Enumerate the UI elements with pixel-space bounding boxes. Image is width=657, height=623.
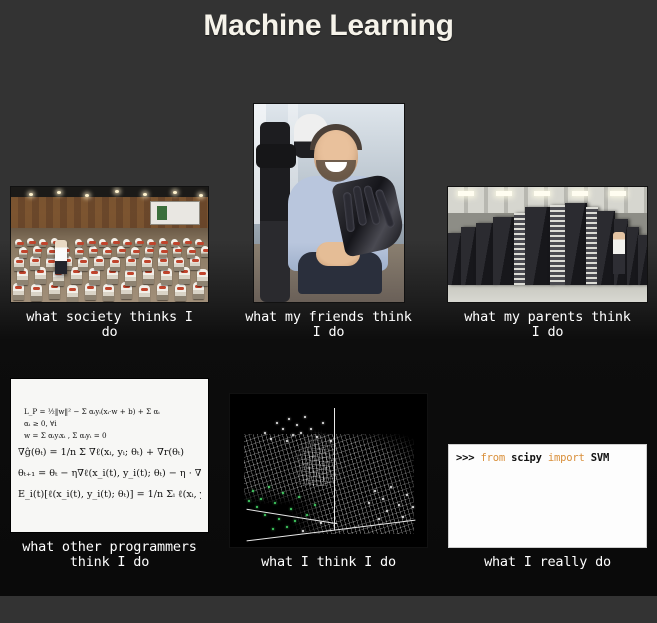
equation-line-3: w = Σ αᵢyᵢxᵢ , Σ αᵢyᵢ = 0 (18, 430, 201, 442)
python-keyword-import: import (548, 452, 585, 464)
meme-row-bottom: L_P = ½‖w‖² − Σ αᵢyᵢ(xᵢ·w + b) + Σ αᵢ αᵢ… (0, 340, 657, 570)
meme-title-bar: Machine Learning (0, 0, 657, 52)
equation-line-6: E_i(t)[ℓ(x_i(t), y_i(t); θₜ)] = 1/n Σᵢ ℓ… (18, 484, 201, 505)
page-title: Machine Learning (203, 9, 453, 43)
caption-friends: what my friends think I do (221, 305, 436, 340)
python-imported-symbol: SVM (585, 452, 610, 464)
equations-image: L_P = ½‖w‖² − Σ αᵢyᵢ(xᵢ·w + b) + Σ αᵢ αᵢ… (10, 378, 209, 533)
caption-i-think: what I think I do (221, 550, 436, 570)
python-module-name: scipy (505, 452, 548, 464)
equation-line-5: θₜ₊₁ = θₜ − η∇ℓ(x_i(t), y_i(t); θₜ) − η … (18, 463, 201, 484)
equation-line-4: ∇ĝ(θₜ) = 1/n Σ ∇ℓ(xᵢ, yᵢ; θₜ) + ∇r(θₜ) (18, 442, 201, 463)
robot-arm-joint (256, 144, 296, 168)
equation-line-2: αᵢ ≥ 0, ∀i (18, 418, 201, 430)
data-center-image (447, 186, 648, 303)
plot-axes (230, 394, 427, 547)
caption-really-do: what I really do (440, 550, 655, 570)
meme-grid: what society thinks I do (0, 52, 657, 570)
meme-cell-really-do: >>> from scipy import SVM what I really … (438, 340, 657, 570)
meme-image: Machine Learning (0, 0, 657, 623)
python-console-line: >>> from scipy import SVM (456, 451, 639, 465)
python-console-image: >>> from scipy import SVM (448, 444, 647, 548)
man-with-robot-arm-image (253, 103, 405, 303)
python-keyword-from: from (481, 452, 506, 464)
equation-line-1: L_P = ½‖w‖² − Σ αᵢyᵢ(xᵢ·w + b) + Σ αᵢ (18, 406, 201, 418)
python-prompt: >>> (456, 452, 481, 464)
meme-cell-friends: what my friends think I do (219, 52, 438, 340)
caption-other-programmers: what other programmers think I do (2, 535, 217, 570)
meme-cell-other-programmers: L_P = ½‖w‖² − Σ αᵢyᵢ(xᵢ·w + b) + Σ αᵢ αᵢ… (0, 340, 219, 570)
robot-hall-image (10, 186, 209, 303)
svm-surface-plot-image (229, 393, 428, 548)
meme-cell-parents: what my parents think I do (438, 52, 657, 340)
caption-parents: what my parents think I do (440, 305, 655, 340)
meme-cell-i-think: what I think I do (219, 340, 438, 570)
meme-row-top: what society thinks I do (0, 52, 657, 340)
robot-rows (11, 224, 209, 302)
meme-cell-society: what society thinks I do (0, 52, 219, 340)
bottom-strip (0, 596, 657, 623)
data-center-technician (613, 232, 625, 274)
hall-person (55, 240, 67, 274)
caption-society: what society thinks I do (2, 305, 217, 340)
